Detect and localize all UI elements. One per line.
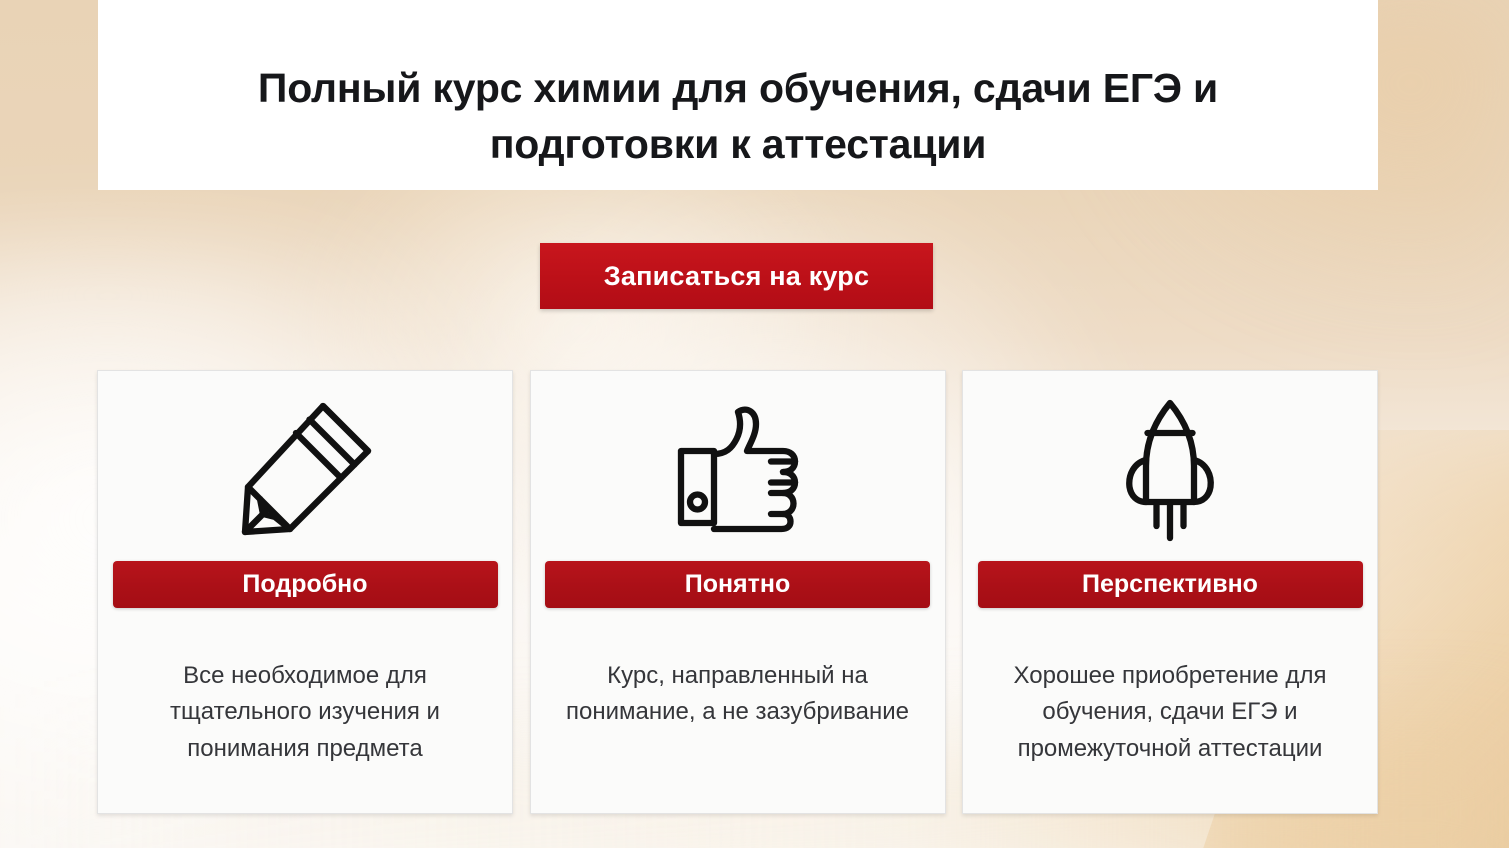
page-content: Химия с нуля до результата на ЕГЭ — онла… [0, 0, 1509, 848]
feature-card[interactable]: Перспективно Хорошее приобретение для об… [962, 370, 1378, 814]
thumbs-up-icon [663, 389, 813, 549]
feature-card[interactable]: Подробно Все необходимое для тщательного… [97, 370, 513, 814]
enroll-course-button[interactable]: Записаться на курс [540, 243, 933, 309]
feature-cards-row: Подробно Все необходимое для тщательного… [97, 370, 1378, 814]
card-label-badge: Подробно [113, 561, 498, 608]
pencil-icon [230, 389, 380, 549]
hero-title-panel: Полный курс химии для обучения, сдачи ЕГ… [98, 0, 1378, 190]
feature-card[interactable]: Понятно Курс, направленный на понимание,… [530, 370, 946, 814]
rocket-icon [1095, 389, 1245, 549]
card-label-badge: Понятно [545, 561, 930, 608]
page-title: Полный курс химии для обучения, сдачи ЕГ… [148, 61, 1328, 172]
card-description: Курс, направленный на понимание, а не за… [553, 658, 923, 731]
card-description: Хорошее приобретение для обучения, сдачи… [985, 658, 1355, 767]
card-description: Все необходимое для тщательного изучения… [120, 658, 490, 767]
card-label-badge: Перспективно [978, 561, 1363, 608]
